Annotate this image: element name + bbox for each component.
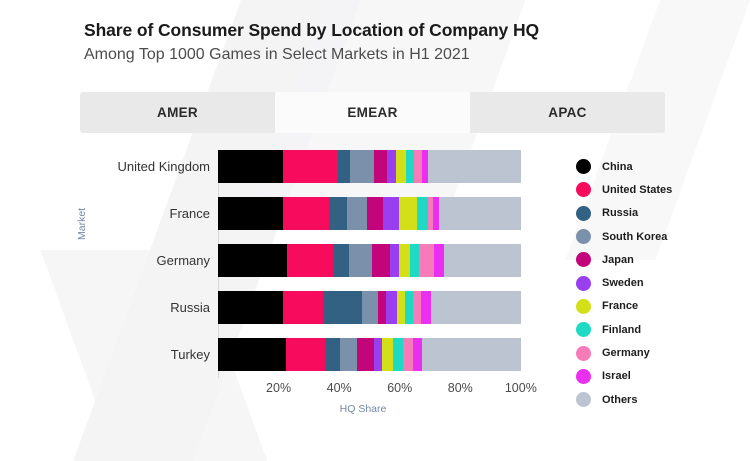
bar-segment-united-states[interactable]	[283, 291, 323, 324]
bar-segment-united-states[interactable]	[287, 244, 333, 277]
legend-item[interactable]: France	[576, 295, 746, 318]
bar-segment-finland[interactable]	[417, 197, 429, 230]
legend-swatch-icon	[576, 369, 591, 384]
legend-item[interactable]: Russia	[576, 202, 746, 225]
bar-segment-others[interactable]	[422, 338, 521, 371]
bar-segment-south-korea[interactable]	[350, 150, 374, 183]
bar-segment-germany[interactable]	[403, 338, 413, 371]
bar-segment-others[interactable]	[431, 291, 521, 324]
bar-segment-south-korea[interactable]	[347, 197, 367, 230]
bar-segment-china[interactable]	[218, 197, 283, 230]
y-tick-label: United Kingdom	[95, 159, 210, 174]
bar-row	[218, 197, 536, 230]
bar-segment-germany[interactable]	[414, 150, 422, 183]
bar-segment-germany[interactable]	[419, 244, 434, 277]
bar-segment-japan[interactable]	[372, 244, 390, 277]
x-axis-title: HQ Share	[340, 403, 387, 415]
bar-segment-israel[interactable]	[421, 291, 430, 324]
x-tick-label: 60%	[387, 381, 412, 395]
bar-row	[218, 291, 536, 324]
legend-swatch-icon	[576, 159, 591, 174]
legend-label: France	[602, 300, 638, 312]
bar-segment-israel[interactable]	[434, 244, 444, 277]
bar-segment-germany[interactable]	[413, 291, 421, 324]
legend-label: Germany	[602, 347, 650, 359]
bar-segment-others[interactable]	[444, 244, 520, 277]
bar-segment-france[interactable]	[397, 291, 405, 324]
bar-segment-russia[interactable]	[325, 338, 340, 371]
legend-item[interactable]: Others	[576, 388, 746, 411]
bar-segment-china[interactable]	[218, 150, 283, 183]
bar-segment-china[interactable]	[218, 291, 283, 324]
legend-label: South Korea	[602, 231, 667, 243]
bar-segment-israel[interactable]	[413, 338, 422, 371]
y-tick-label: Russia	[95, 300, 210, 315]
bar-segment-japan[interactable]	[374, 150, 387, 183]
chart-header: Share of Consumer Spend by Location of C…	[84, 18, 539, 67]
bar-segment-russia[interactable]	[333, 244, 349, 277]
bar-segment-united-states[interactable]	[283, 150, 338, 183]
chart-legend: ChinaUnited StatesRussiaSouth KoreaJapan…	[576, 155, 746, 411]
bar-segment-russia[interactable]	[329, 197, 347, 230]
legend-item[interactable]: United States	[576, 178, 746, 201]
bar-segment-china[interactable]	[218, 338, 286, 371]
bar-segment-united-states[interactable]	[286, 338, 325, 371]
legend-swatch-icon	[576, 299, 591, 314]
bar-segment-south-korea[interactable]	[340, 338, 357, 371]
bar-segment-china[interactable]	[218, 244, 287, 277]
chart-page: Share of Consumer Spend by Location of C…	[0, 0, 750, 461]
x-tick-label: 20%	[266, 381, 291, 395]
legend-label: United States	[602, 184, 672, 196]
stacked-bar-plot	[218, 150, 536, 375]
legend-swatch-icon	[576, 206, 591, 221]
bar-segment-south-korea[interactable]	[349, 244, 372, 277]
legend-swatch-icon	[576, 322, 591, 337]
bar-segment-japan[interactable]	[357, 338, 373, 371]
bar-row	[218, 338, 536, 371]
legend-swatch-icon	[576, 182, 591, 197]
legend-label: Israel	[602, 370, 631, 382]
bar-segment-sweden[interactable]	[374, 338, 382, 371]
bar-segment-france[interactable]	[399, 244, 410, 277]
page-subtitle: Among Top 1000 Games in Select Markets i…	[84, 43, 539, 67]
legend-label: Russia	[602, 207, 638, 219]
bar-segment-japan[interactable]	[367, 197, 383, 230]
legend-item[interactable]: Finland	[576, 318, 746, 341]
bar-segment-united-states[interactable]	[283, 197, 328, 230]
legend-label: Others	[602, 394, 637, 406]
bar-row	[218, 244, 536, 277]
y-axis-tick-labels: United KingdomFranceGermanyRussiaTurkey	[95, 150, 210, 375]
y-tick-label: Germany	[95, 253, 210, 268]
bar-segment-others[interactable]	[428, 150, 520, 183]
bar-segment-sweden[interactable]	[387, 150, 396, 183]
legend-item[interactable]: Sweden	[576, 271, 746, 294]
legend-swatch-icon	[576, 346, 591, 361]
legend-item[interactable]: South Korea	[576, 225, 746, 248]
legend-item[interactable]: Germany	[576, 341, 746, 364]
bar-segment-sweden[interactable]	[390, 244, 399, 277]
bar-segment-finland[interactable]	[405, 291, 413, 324]
bar-segment-finland[interactable]	[393, 338, 403, 371]
legend-swatch-icon	[576, 229, 591, 244]
region-tab-bar: AMEREMEARAPAC	[80, 92, 665, 133]
tab-amer[interactable]: AMER	[80, 92, 275, 133]
bar-segment-france[interactable]	[382, 338, 393, 371]
bar-segment-japan[interactable]	[378, 291, 386, 324]
legend-swatch-icon	[576, 276, 591, 291]
bar-segment-south-korea[interactable]	[362, 291, 377, 324]
tab-apac[interactable]: APAC	[470, 92, 665, 133]
bar-segment-others[interactable]	[439, 197, 520, 230]
legend-item[interactable]: Japan	[576, 248, 746, 271]
bar-segment-france[interactable]	[399, 197, 416, 230]
page-title: Share of Consumer Spend by Location of C…	[84, 18, 539, 42]
bar-segment-russia[interactable]	[323, 291, 363, 324]
bar-segment-france[interactable]	[396, 150, 406, 183]
x-axis-tick-labels: 20%40%60%80%100%	[218, 381, 548, 399]
legend-swatch-icon	[576, 252, 591, 267]
y-tick-label: Turkey	[95, 347, 210, 362]
bar-segment-finland[interactable]	[406, 150, 414, 183]
bar-segment-finland[interactable]	[410, 244, 419, 277]
bar-segment-russia[interactable]	[338, 150, 351, 183]
bar-segment-sweden[interactable]	[383, 197, 399, 230]
legend-item[interactable]: China	[576, 155, 746, 178]
x-tick-label: 40%	[327, 381, 352, 395]
legend-label: Sweden	[602, 277, 644, 289]
bar-segment-sweden[interactable]	[386, 291, 397, 324]
legend-label: China	[602, 161, 633, 173]
x-tick-label: 80%	[448, 381, 473, 395]
y-axis-title: Market	[76, 208, 88, 240]
y-tick-label: France	[95, 206, 210, 221]
legend-swatch-icon	[576, 392, 591, 407]
tab-emear[interactable]: EMEAR	[275, 92, 470, 133]
bar-row	[218, 150, 536, 183]
legend-label: Finland	[602, 324, 641, 336]
legend-label: Japan	[602, 254, 634, 266]
legend-item[interactable]: Israel	[576, 365, 746, 388]
x-tick-label: 100%	[505, 381, 537, 395]
